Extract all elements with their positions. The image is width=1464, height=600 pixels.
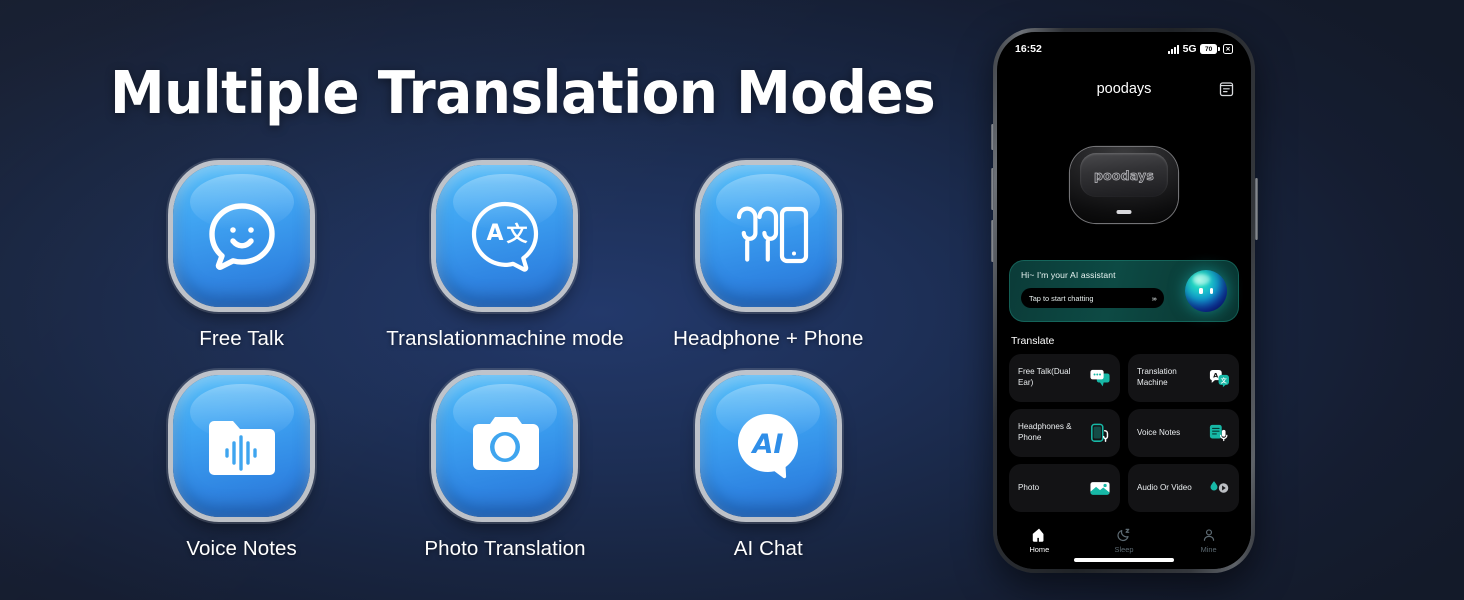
mode-label: Photo Translation — [424, 537, 585, 561]
battery-level: 70 — [1200, 44, 1217, 54]
tile-label: Photo — [1018, 483, 1039, 494]
moon-icon — [1117, 528, 1131, 542]
translate-tiles-grid: Free Talk(Dual Ear) Translation Machine — [1009, 354, 1239, 512]
translate-badge-icon: A 文 — [1208, 368, 1230, 388]
ai-avatar — [1185, 270, 1227, 312]
bottom-tab-bar: Home Sleep Mine — [997, 523, 1251, 569]
battery-icon: 70 — [1200, 44, 1219, 54]
mode-item-voice-notes[interactable]: Voice Notes — [110, 375, 373, 585]
tile-label: Translation Machine — [1137, 367, 1195, 389]
mode-item-headphone-phone[interactable]: Headphone + Phone — [637, 165, 900, 375]
chevrons-right-icon: ››› — [1152, 294, 1156, 303]
tab-label: Sleep — [1115, 545, 1134, 554]
tab-label: Home — [1029, 545, 1049, 554]
tile-headphones-phone[interactable]: Headphones & Phone — [1009, 409, 1120, 457]
phone-screen: 16:52 5G 70 ✕ poodays — [997, 32, 1251, 569]
camera-icon — [436, 375, 573, 517]
app-header: poodays — [997, 72, 1251, 106]
case-indicator — [1117, 210, 1132, 214]
translate-chat-bubble-icon: A 文 — [436, 165, 573, 307]
app-title: poodays — [1097, 81, 1152, 97]
svg-text:文: 文 — [506, 222, 528, 246]
svg-text:文: 文 — [1220, 377, 1228, 385]
tab-sleep[interactable]: Sleep — [1094, 528, 1154, 554]
phone-volume-down-button[interactable] — [991, 220, 994, 262]
mode-item-free-talk[interactable]: Free Talk — [110, 165, 373, 375]
case-logo: poodays — [1094, 168, 1154, 183]
tile-label: Headphones & Phone — [1018, 422, 1076, 444]
audio-video-icon — [1208, 478, 1230, 498]
start-chatting-button[interactable]: Tap to start chatting ››› — [1021, 288, 1164, 308]
mode-item-photo-translation[interactable]: Photo Translation — [373, 375, 636, 585]
network-type: 5G — [1183, 43, 1197, 55]
signal-bars-icon — [1168, 45, 1179, 54]
section-title-translate: Translate — [1011, 335, 1054, 347]
tab-home[interactable]: Home — [1009, 528, 1069, 554]
tile-free-talk-dual-ear[interactable]: Free Talk(Dual Ear) — [1009, 354, 1120, 402]
notes-icon[interactable] — [1219, 81, 1234, 97]
home-icon — [1032, 528, 1046, 542]
home-indicator[interactable] — [1074, 558, 1174, 562]
mode-label: Headphone + Phone — [673, 327, 863, 351]
tile-label: Voice Notes — [1137, 428, 1180, 439]
ai-assistant-card[interactable]: Hi~ I'm your AI assistant Tap to start c… — [1009, 260, 1239, 322]
start-chatting-label: Tap to start chatting — [1029, 294, 1094, 303]
phone-mute-switch[interactable] — [991, 124, 994, 150]
tile-voice-notes[interactable]: Voice Notes — [1128, 409, 1239, 457]
note-mic-icon — [1208, 423, 1230, 443]
earbuds-case-image: poodays — [997, 128, 1251, 242]
phone-mockup: 16:52 5G 70 ✕ poodays — [993, 28, 1255, 573]
phone-earbud-icon — [1089, 423, 1111, 443]
mode-item-ai-chat[interactable]: AI AI Chat — [637, 375, 900, 585]
battery-saver-icon: ✕ — [1223, 44, 1233, 54]
tile-label: Free Talk(Dual Ear) — [1018, 367, 1076, 389]
tile-photo[interactable]: Photo — [1009, 464, 1120, 512]
chat-bubbles-icon — [1089, 368, 1111, 388]
status-bar: 16:52 5G 70 ✕ — [997, 32, 1251, 66]
svg-text:AI: AI — [751, 429, 784, 460]
tile-translation-machine[interactable]: Translation Machine A 文 — [1128, 354, 1239, 402]
svg-text:A: A — [486, 221, 503, 246]
waveform-folder-icon — [173, 375, 310, 517]
earbuds-phone-icon — [700, 165, 837, 307]
promo-banner: Multiple Translation Modes Free Talk — [0, 0, 1464, 600]
smiley-chat-bubble-icon — [173, 165, 310, 307]
phone-volume-up-button[interactable] — [991, 168, 994, 210]
mode-item-translation-machine[interactable]: A 文 Translationmachine mode — [373, 165, 636, 375]
tile-audio-or-video[interactable]: Audio Or Video — [1128, 464, 1239, 512]
status-time: 16:52 — [1015, 43, 1042, 55]
phone-power-button[interactable] — [1255, 178, 1258, 240]
tab-mine[interactable]: Mine — [1179, 528, 1239, 554]
person-icon — [1202, 528, 1216, 542]
ai-chat-bubble-icon: AI — [700, 375, 837, 517]
mode-label: Translationmachine mode — [386, 327, 623, 351]
tile-label: Audio Or Video — [1137, 483, 1192, 494]
left-content-panel: Multiple Translation Modes Free Talk — [0, 0, 960, 600]
photo-icon — [1089, 478, 1111, 498]
mode-label: Voice Notes — [186, 537, 297, 561]
mode-label: Free Talk — [199, 327, 284, 351]
modes-grid: Free Talk A 文 Translationmachine mode — [110, 165, 900, 585]
mode-label: AI Chat — [734, 537, 803, 561]
tab-label: Mine — [1201, 545, 1217, 554]
page-title: Multiple Translation Modes — [110, 62, 873, 124]
